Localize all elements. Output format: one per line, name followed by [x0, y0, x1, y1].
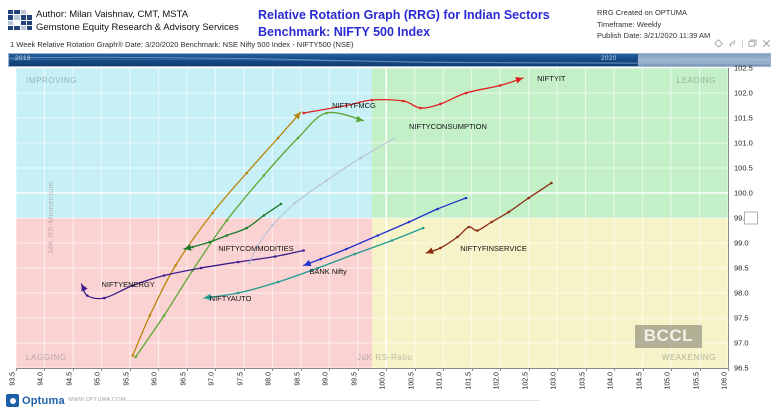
optuma-logo: Optuma: [6, 394, 65, 407]
y-axis-tick: 101.5: [734, 114, 753, 123]
author-block: Author: Milan Vaishnav, CMT, MSTA Gemsto…: [36, 8, 239, 34]
series-paths: [16, 68, 728, 368]
meta-timeframe: Timeframe: Weekly: [597, 19, 710, 31]
series-point: [302, 112, 305, 115]
y-axis: 102.5102.0101.5101.0100.5100.099.599.098…: [728, 68, 771, 368]
series-line: [426, 183, 551, 253]
x-axis-tick: 95.0: [95, 372, 102, 386]
series-point: [422, 227, 425, 230]
series-arrow-head: [425, 247, 434, 256]
x-axis-tick-mark: [272, 368, 273, 371]
series-line: [136, 112, 364, 357]
x-axis-tick: 97.5: [237, 372, 244, 386]
series-point: [302, 249, 305, 252]
series-label: BANK Nifty: [309, 267, 347, 276]
series-point: [439, 103, 442, 106]
series-label: NIFTYCONSUMPTION: [409, 122, 487, 131]
x-axis-tick: 96.5: [180, 372, 187, 386]
x-axis-tick-mark: [101, 368, 102, 371]
footer-divider: [100, 400, 540, 401]
series-point: [465, 92, 468, 95]
x-axis-tick-mark: [158, 368, 159, 371]
series-point: [262, 174, 265, 177]
timeline-year-start: 2019: [15, 55, 31, 62]
x-axis-tick: 103.0: [551, 372, 558, 390]
x-axis-tick: 94.0: [38, 372, 45, 386]
x-axis-tick-mark: [301, 368, 302, 371]
x-axis: 93.594.094.595.095.596.096.597.097.598.0…: [16, 368, 728, 390]
metadata-block: RRG Created on OPTUMA Timeframe: Weekly …: [597, 7, 710, 42]
x-axis-tick: 104.0: [608, 372, 615, 390]
x-axis-tick: 101.5: [465, 372, 472, 390]
series-point: [476, 229, 479, 232]
series-point: [550, 182, 553, 185]
series-point: [149, 314, 152, 317]
x-axis-tick: 99.0: [323, 372, 330, 386]
series-point: [274, 255, 277, 258]
watermark: BCCL: [635, 325, 702, 348]
toolbar-divider: [742, 40, 743, 48]
y-axis-tick: 100.5: [734, 164, 753, 173]
series-point: [262, 214, 265, 217]
gemstone-logo-icon: [8, 10, 32, 30]
x-axis-tick-mark: [130, 368, 131, 371]
link-icon[interactable]: [728, 39, 737, 48]
series-point: [131, 354, 134, 357]
x-axis-tick-mark: [244, 368, 245, 371]
series-point: [277, 137, 280, 140]
y-axis-tick: 101.0: [734, 139, 753, 148]
series-point: [248, 262, 251, 265]
x-axis-tick: 99.5: [351, 372, 358, 386]
series-point: [456, 236, 459, 239]
series-point: [225, 219, 228, 222]
optuma-wordmark: Optuma: [22, 395, 65, 407]
series-point: [408, 221, 411, 224]
x-axis-tick-mark: [16, 368, 17, 371]
series-point: [280, 203, 283, 206]
footer: Optuma WWW.OPTUMA.COM: [0, 392, 779, 410]
header: Author: Milan Vaishnav, CMT, MSTA Gemsto…: [0, 0, 779, 38]
series-arrow-head: [515, 75, 524, 84]
series-point: [86, 294, 89, 297]
series-point: [527, 197, 530, 200]
series-line: [184, 204, 281, 249]
series-line: [82, 251, 304, 299]
series-point: [465, 197, 468, 200]
series-line: [304, 198, 466, 266]
series-label: NIFTYFMCG: [332, 101, 376, 110]
x-axis-tick: 101.0: [437, 372, 444, 390]
series-point: [200, 267, 203, 270]
x-axis-tick-mark: [215, 368, 216, 371]
title-benchmark: Benchmark: NIFTY 500 Index: [258, 24, 550, 41]
timeline-year-end: 2020: [601, 55, 617, 62]
x-axis-tick-mark: [187, 368, 188, 371]
series-point: [319, 258, 322, 261]
series-point: [208, 241, 211, 244]
series-point: [103, 297, 106, 300]
y-axis-tick: 98.0: [734, 289, 749, 298]
meta-created-on: RRG Created on OPTUMA: [597, 7, 710, 19]
series-line: [204, 228, 423, 298]
optuma-mark-icon: [6, 394, 19, 407]
series-point: [211, 212, 214, 215]
x-axis-tick: 102.0: [494, 372, 501, 390]
window-controls: [714, 39, 771, 48]
series-label: NIFTYFINSERVICE: [460, 244, 527, 253]
series-point: [345, 248, 348, 251]
settings-diamond-icon[interactable]: [714, 39, 723, 48]
title-primary: Relative Rotation Graph (RRG) for Indian…: [258, 7, 550, 24]
x-axis-tick: 96.0: [152, 372, 159, 386]
series-label: NIFTYENERGY: [101, 280, 154, 289]
x-axis-tick: 100.5: [408, 372, 415, 390]
series-point: [499, 84, 502, 87]
x-axis-tick-mark: [73, 368, 74, 371]
chart-toolbar: 1 Week Relative Rotation Graph® Date: 3/…: [0, 40, 779, 52]
y-axis-tick: 99.0: [734, 239, 749, 248]
series-point: [354, 253, 357, 256]
author-firm: Gemstone Equity Research & Advisory Serv…: [36, 21, 239, 34]
series-point: [297, 137, 300, 140]
y-axis-tick: 100.0: [734, 189, 753, 198]
series-point: [391, 239, 394, 242]
x-axis-tick-mark: [358, 368, 359, 371]
series-point: [325, 112, 328, 115]
plot-canvas[interactable]: IMPROVING LEADING LAGGING WEAKENING JdK …: [16, 68, 728, 368]
y-axis-tick: 102.0: [734, 89, 753, 98]
series-point: [237, 261, 240, 264]
x-axis-line: [16, 368, 728, 369]
x-axis-tick: 94.5: [66, 372, 73, 386]
series-point: [277, 281, 280, 284]
series-point: [439, 247, 442, 250]
y-axis-tick: 97.0: [734, 339, 749, 348]
series-point: [163, 314, 166, 317]
series-point: [225, 234, 228, 237]
timeline-scrollbar[interactable]: 2019 2020: [8, 53, 771, 67]
rrg-application: Author: Milan Vaishnav, CMT, MSTA Gemsto…: [0, 0, 779, 410]
x-axis-tick: 105.0: [665, 372, 672, 390]
chart-description: 1 Week Relative Rotation Graph® Date: 3/…: [10, 40, 353, 49]
series-point: [163, 274, 166, 277]
series-point: [490, 221, 493, 224]
x-axis-tick: 100.0: [380, 372, 387, 390]
series-point: [436, 208, 439, 211]
author-name: Author: Milan Vaishnav, CMT, MSTA: [36, 8, 239, 21]
series-point: [294, 202, 297, 205]
series-point: [271, 224, 274, 227]
series-label: NIFTYCOMMODITIES: [218, 244, 293, 253]
series-label: NIFTYAUTO: [210, 294, 252, 303]
restore-window-icon[interactable]: [748, 39, 757, 48]
x-axis-tick-mark: [329, 368, 330, 371]
series-point: [359, 157, 362, 160]
series-point: [468, 226, 471, 229]
y-axis-tick: 97.5: [734, 314, 749, 323]
x-axis-tick: 102.5: [522, 372, 529, 390]
x-axis-tick: 98.5: [294, 372, 301, 386]
series-point: [507, 211, 510, 214]
x-axis-tick: 105.5: [693, 372, 700, 390]
series-arrow-head: [78, 282, 87, 291]
series-point: [245, 172, 248, 175]
page-title: Relative Rotation Graph (RRG) for Indian…: [258, 7, 550, 41]
series-point: [325, 179, 328, 182]
x-axis-tick: 103.5: [579, 372, 586, 390]
x-axis-tick: 97.0: [209, 372, 216, 386]
y-axis-tick: 102.5: [734, 64, 753, 73]
y-axis-tick: 96.5: [734, 364, 749, 373]
series-point: [191, 246, 194, 249]
series-label: NIFTYIT: [537, 74, 565, 83]
series-point: [419, 107, 422, 110]
series-point: [376, 234, 379, 237]
y-axis-tick: 98.5: [734, 264, 749, 273]
close-icon[interactable]: [762, 39, 771, 48]
x-axis-tick-mark: [44, 368, 45, 371]
y-axis-line: [728, 68, 729, 368]
x-axis-tick: 93.5: [10, 372, 17, 386]
series-point: [245, 227, 248, 230]
x-axis-tick: 98.0: [266, 372, 273, 386]
series-point: [174, 264, 177, 267]
series-point: [134, 356, 137, 359]
series-point: [402, 100, 405, 103]
y-axis-value-marker[interactable]: [744, 212, 758, 225]
x-axis-tick: 106.0: [722, 372, 729, 390]
chart-area: IMPROVING LEADING LAGGING WEAKENING JdK …: [8, 68, 771, 390]
x-axis-tick: 95.5: [123, 372, 130, 386]
x-axis-tick: 104.5: [636, 372, 643, 390]
